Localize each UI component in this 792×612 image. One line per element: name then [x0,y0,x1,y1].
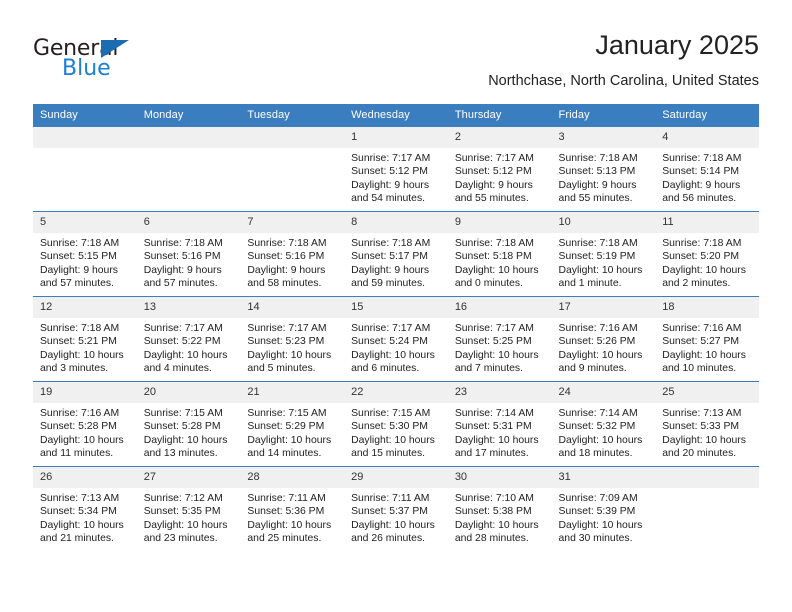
sunrise-time: Sunrise: 7:15 AM [247,407,338,420]
calendar-day-cell[interactable]: 19Sunrise: 7:16 AMSunset: 5:28 PMDayligh… [33,382,137,467]
calendar-day-cell-empty [137,127,241,212]
calendar-day-cell[interactable]: 23Sunrise: 7:14 AMSunset: 5:31 PMDayligh… [448,382,552,467]
sunrise-time: Sunrise: 7:09 AM [559,492,650,505]
day-number: 5 [33,212,137,233]
sunset-time: Sunset: 5:19 PM [559,250,650,263]
calendar-week-row: 12Sunrise: 7:18 AMSunset: 5:21 PMDayligh… [33,297,759,382]
daylight-duration-line1: Daylight: 10 hours [247,519,338,532]
calendar-day-cell[interactable]: 31Sunrise: 7:09 AMSunset: 5:39 PMDayligh… [552,467,656,552]
sunrise-time: Sunrise: 7:18 AM [662,237,753,250]
calendar-day-cell[interactable]: 25Sunrise: 7:13 AMSunset: 5:33 PMDayligh… [655,382,759,467]
sunset-time: Sunset: 5:22 PM [144,335,235,348]
daylight-duration-line1: Daylight: 9 hours [40,264,131,277]
day-details: Sunrise: 7:17 AMSunset: 5:22 PMDaylight:… [137,318,241,376]
sunset-time: Sunset: 5:13 PM [559,165,650,178]
calendar-day-cell[interactable]: 12Sunrise: 7:18 AMSunset: 5:21 PMDayligh… [33,297,137,382]
day-number: 3 [552,127,656,148]
sunrise-time: Sunrise: 7:18 AM [40,237,131,250]
calendar-day-cell-empty [33,127,137,212]
sunrise-time: Sunrise: 7:17 AM [144,322,235,335]
daylight-duration-line1: Daylight: 10 hours [662,264,753,277]
day-number: 2 [448,127,552,148]
day-details: Sunrise: 7:18 AMSunset: 5:19 PMDaylight:… [552,233,656,291]
day-details: Sunrise: 7:18 AMSunset: 5:18 PMDaylight:… [448,233,552,291]
day-details: Sunrise: 7:18 AMSunset: 5:17 PMDaylight:… [344,233,448,291]
day-details: Sunrise: 7:14 AMSunset: 5:32 PMDaylight:… [552,403,656,461]
daylight-duration-line1: Daylight: 10 hours [455,349,546,362]
daylight-duration-line1: Daylight: 10 hours [559,519,650,532]
sunset-time: Sunset: 5:18 PM [455,250,546,263]
day-details: Sunrise: 7:16 AMSunset: 5:26 PMDaylight:… [552,318,656,376]
daylight-duration-line2: and 20 minutes. [662,447,753,460]
day-details: Sunrise: 7:13 AMSunset: 5:33 PMDaylight:… [655,403,759,461]
weekday-header-sunday: Sunday [33,104,137,127]
sunset-time: Sunset: 5:32 PM [559,420,650,433]
sunset-time: Sunset: 5:37 PM [351,505,442,518]
sunset-time: Sunset: 5:12 PM [351,165,442,178]
sunrise-time: Sunrise: 7:13 AM [662,407,753,420]
daylight-duration-line2: and 14 minutes. [247,447,338,460]
sunset-time: Sunset: 5:34 PM [40,505,131,518]
day-details: Sunrise: 7:18 AMSunset: 5:20 PMDaylight:… [655,233,759,291]
daylight-duration-line2: and 2 minutes. [662,277,753,290]
calendar-day-cell[interactable]: 21Sunrise: 7:15 AMSunset: 5:29 PMDayligh… [240,382,344,467]
day-number: 21 [240,382,344,403]
calendar-day-cell[interactable]: 27Sunrise: 7:12 AMSunset: 5:35 PMDayligh… [137,467,241,552]
sunrise-time: Sunrise: 7:14 AM [455,407,546,420]
sunset-time: Sunset: 5:29 PM [247,420,338,433]
daylight-duration-line2: and 28 minutes. [455,532,546,545]
sunrise-time: Sunrise: 7:15 AM [351,407,442,420]
sunrise-time: Sunrise: 7:16 AM [662,322,753,335]
daylight-duration-line2: and 57 minutes. [144,277,235,290]
daylight-duration-line1: Daylight: 9 hours [559,179,650,192]
day-number: 25 [655,382,759,403]
sunset-time: Sunset: 5:33 PM [662,420,753,433]
sunrise-time: Sunrise: 7:17 AM [455,322,546,335]
logo-text-blue: Blue [62,56,111,82]
daylight-duration-line2: and 30 minutes. [559,532,650,545]
daylight-duration-line1: Daylight: 10 hours [559,349,650,362]
day-details: Sunrise: 7:18 AMSunset: 5:21 PMDaylight:… [33,318,137,376]
calendar-week-row: 5Sunrise: 7:18 AMSunset: 5:15 PMDaylight… [33,212,759,297]
day-details: Sunrise: 7:13 AMSunset: 5:34 PMDaylight:… [33,488,137,546]
weekday-header-tuesday: Tuesday [240,104,344,127]
calendar-day-cell[interactable]: 6Sunrise: 7:18 AMSunset: 5:16 PMDaylight… [137,212,241,297]
sunrise-time: Sunrise: 7:18 AM [247,237,338,250]
day-number: 16 [448,297,552,318]
weekday-header-thursday: Thursday [448,104,552,127]
weekday-header-wednesday: Wednesday [344,104,448,127]
daylight-duration-line1: Daylight: 10 hours [559,264,650,277]
weekday-header-row: Sunday Monday Tuesday Wednesday Thursday… [33,104,759,127]
sunset-time: Sunset: 5:35 PM [144,505,235,518]
daylight-duration-line1: Daylight: 10 hours [40,349,131,362]
sunrise-time: Sunrise: 7:18 AM [351,237,442,250]
daylight-duration-line1: Daylight: 10 hours [455,264,546,277]
calendar-week-row: 19Sunrise: 7:16 AMSunset: 5:28 PMDayligh… [33,382,759,467]
day-number: 7 [240,212,344,233]
day-number: 8 [344,212,448,233]
daylight-duration-line2: and 9 minutes. [559,362,650,375]
daylight-duration-line2: and 4 minutes. [144,362,235,375]
day-number [137,127,241,148]
day-details: Sunrise: 7:15 AMSunset: 5:30 PMDaylight:… [344,403,448,461]
sunset-time: Sunset: 5:16 PM [144,250,235,263]
daylight-duration-line1: Daylight: 9 hours [247,264,338,277]
day-number: 26 [33,467,137,488]
calendar-day-cell[interactable]: 16Sunrise: 7:17 AMSunset: 5:25 PMDayligh… [448,297,552,382]
daylight-duration-line1: Daylight: 10 hours [40,519,131,532]
daylight-duration-line1: Daylight: 9 hours [351,264,442,277]
daylight-duration-line2: and 18 minutes. [559,447,650,460]
calendar-day-cell[interactable]: 11Sunrise: 7:18 AMSunset: 5:20 PMDayligh… [655,212,759,297]
daylight-duration-line1: Daylight: 10 hours [247,434,338,447]
daylight-duration-line1: Daylight: 10 hours [662,349,753,362]
daylight-duration-line1: Daylight: 10 hours [40,434,131,447]
sunrise-time: Sunrise: 7:16 AM [40,407,131,420]
day-details: Sunrise: 7:18 AMSunset: 5:14 PMDaylight:… [655,148,759,206]
weekday-header-monday: Monday [137,104,241,127]
calendar-day-cell[interactable]: 1Sunrise: 7:17 AMSunset: 5:12 PMDaylight… [344,127,448,212]
day-details: Sunrise: 7:17 AMSunset: 5:23 PMDaylight:… [240,318,344,376]
sunset-time: Sunset: 5:16 PM [247,250,338,263]
daylight-duration-line1: Daylight: 10 hours [144,434,235,447]
daylight-duration-line2: and 26 minutes. [351,532,442,545]
day-number: 20 [137,382,241,403]
calendar-day-cell[interactable]: 9Sunrise: 7:18 AMSunset: 5:18 PMDaylight… [448,212,552,297]
sunset-time: Sunset: 5:27 PM [662,335,753,348]
calendar-page: General Blue January 2025 Northchase, No… [0,0,792,612]
calendar-day-cell[interactable]: 29Sunrise: 7:11 AMSunset: 5:37 PMDayligh… [344,467,448,552]
day-number [655,467,759,488]
calendar-day-cell[interactable]: 8Sunrise: 7:18 AMSunset: 5:17 PMDaylight… [344,212,448,297]
daylight-duration-line2: and 7 minutes. [455,362,546,375]
sunrise-time: Sunrise: 7:14 AM [559,407,650,420]
daylight-duration-line2: and 55 minutes. [455,192,546,205]
daylight-duration-line1: Daylight: 10 hours [247,349,338,362]
day-details: Sunrise: 7:10 AMSunset: 5:38 PMDaylight:… [448,488,552,546]
daylight-duration-line1: Daylight: 10 hours [662,434,753,447]
day-number [33,127,137,148]
day-details: Sunrise: 7:17 AMSunset: 5:12 PMDaylight:… [448,148,552,206]
daylight-duration-line2: and 25 minutes. [247,532,338,545]
day-number: 4 [655,127,759,148]
sunrise-time: Sunrise: 7:18 AM [559,152,650,165]
sunset-time: Sunset: 5:36 PM [247,505,338,518]
day-details: Sunrise: 7:17 AMSunset: 5:12 PMDaylight:… [344,148,448,206]
calendar-day-cell[interactable]: 14Sunrise: 7:17 AMSunset: 5:23 PMDayligh… [240,297,344,382]
day-number: 13 [137,297,241,318]
calendar-week-row: 26Sunrise: 7:13 AMSunset: 5:34 PMDayligh… [33,467,759,552]
day-number: 27 [137,467,241,488]
daylight-duration-line1: Daylight: 10 hours [351,519,442,532]
day-number: 30 [448,467,552,488]
day-details: Sunrise: 7:16 AMSunset: 5:27 PMDaylight:… [655,318,759,376]
daylight-duration-line2: and 1 minute. [559,277,650,290]
daylight-duration-line1: Daylight: 10 hours [559,434,650,447]
calendar-day-cell[interactable]: 30Sunrise: 7:10 AMSunset: 5:38 PMDayligh… [448,467,552,552]
day-number: 28 [240,467,344,488]
day-details: Sunrise: 7:09 AMSunset: 5:39 PMDaylight:… [552,488,656,546]
general-blue-logo[interactable]: General Blue [33,36,153,84]
sunrise-time: Sunrise: 7:10 AM [455,492,546,505]
day-number [240,127,344,148]
sunrise-time: Sunrise: 7:12 AM [144,492,235,505]
day-details: Sunrise: 7:18 AMSunset: 5:15 PMDaylight:… [33,233,137,291]
day-number: 19 [33,382,137,403]
daylight-duration-line2: and 58 minutes. [247,277,338,290]
day-details: Sunrise: 7:16 AMSunset: 5:28 PMDaylight:… [33,403,137,461]
sunrise-time: Sunrise: 7:15 AM [144,407,235,420]
daylight-duration-line2: and 15 minutes. [351,447,442,460]
daylight-duration-line2: and 11 minutes. [40,447,131,460]
calendar-day-cell[interactable]: 5Sunrise: 7:18 AMSunset: 5:15 PMDaylight… [33,212,137,297]
calendar-day-cell[interactable]: 4Sunrise: 7:18 AMSunset: 5:14 PMDaylight… [655,127,759,212]
daylight-duration-line2: and 3 minutes. [40,362,131,375]
daylight-duration-line2: and 10 minutes. [662,362,753,375]
daylight-duration-line1: Daylight: 9 hours [144,264,235,277]
calendar-day-cell[interactable]: 2Sunrise: 7:17 AMSunset: 5:12 PMDaylight… [448,127,552,212]
day-details: Sunrise: 7:18 AMSunset: 5:16 PMDaylight:… [137,233,241,291]
sunset-time: Sunset: 5:23 PM [247,335,338,348]
day-number: 6 [137,212,241,233]
sunset-time: Sunset: 5:26 PM [559,335,650,348]
daylight-duration-line2: and 0 minutes. [455,277,546,290]
sunset-time: Sunset: 5:20 PM [662,250,753,263]
day-number: 31 [552,467,656,488]
daylight-duration-line2: and 17 minutes. [455,447,546,460]
sunrise-time: Sunrise: 7:17 AM [247,322,338,335]
calendar-week-row: 1Sunrise: 7:17 AMSunset: 5:12 PMDaylight… [33,127,759,212]
day-details: Sunrise: 7:12 AMSunset: 5:35 PMDaylight:… [137,488,241,546]
weekday-header-saturday: Saturday [655,104,759,127]
calendar-day-cell[interactable]: 15Sunrise: 7:17 AMSunset: 5:24 PMDayligh… [344,297,448,382]
daylight-duration-line1: Daylight: 10 hours [351,349,442,362]
sunrise-time: Sunrise: 7:17 AM [351,152,442,165]
sunrise-time: Sunrise: 7:17 AM [351,322,442,335]
sunset-time: Sunset: 5:30 PM [351,420,442,433]
daylight-duration-line2: and 13 minutes. [144,447,235,460]
day-details: Sunrise: 7:14 AMSunset: 5:31 PMDaylight:… [448,403,552,461]
sunset-time: Sunset: 5:31 PM [455,420,546,433]
day-number: 1 [344,127,448,148]
sunset-time: Sunset: 5:21 PM [40,335,131,348]
day-details: Sunrise: 7:18 AMSunset: 5:13 PMDaylight:… [552,148,656,206]
title-block: January 2025 Northchase, North Carolina,… [488,28,759,91]
sunrise-sunset-calendar: Sunday Monday Tuesday Wednesday Thursday… [33,104,759,551]
sunset-time: Sunset: 5:15 PM [40,250,131,263]
day-details: Sunrise: 7:11 AMSunset: 5:36 PMDaylight:… [240,488,344,546]
day-number: 12 [33,297,137,318]
calendar-day-cell-empty [655,467,759,552]
day-details: Sunrise: 7:18 AMSunset: 5:16 PMDaylight:… [240,233,344,291]
daylight-duration-line2: and 55 minutes. [559,192,650,205]
calendar-day-cell[interactable]: 10Sunrise: 7:18 AMSunset: 5:19 PMDayligh… [552,212,656,297]
calendar-header: Sunday Monday Tuesday Wednesday Thursday… [33,104,759,127]
daylight-duration-line1: Daylight: 10 hours [144,519,235,532]
calendar-day-cell[interactable]: 7Sunrise: 7:18 AMSunset: 5:16 PMDaylight… [240,212,344,297]
daylight-duration-line1: Daylight: 10 hours [455,434,546,447]
day-number: 11 [655,212,759,233]
sunset-time: Sunset: 5:38 PM [455,505,546,518]
calendar-day-cell[interactable]: 26Sunrise: 7:13 AMSunset: 5:34 PMDayligh… [33,467,137,552]
sunset-time: Sunset: 5:14 PM [662,165,753,178]
sunrise-time: Sunrise: 7:18 AM [144,237,235,250]
daylight-duration-line2: and 6 minutes. [351,362,442,375]
weekday-header-friday: Friday [552,104,656,127]
daylight-duration-line2: and 54 minutes. [351,192,442,205]
sunset-time: Sunset: 5:12 PM [455,165,546,178]
daylight-duration-line2: and 5 minutes. [247,362,338,375]
sunset-time: Sunset: 5:28 PM [144,420,235,433]
day-number: 23 [448,382,552,403]
daylight-duration-line1: Daylight: 9 hours [662,179,753,192]
calendar-day-cell[interactable]: 20Sunrise: 7:15 AMSunset: 5:28 PMDayligh… [137,382,241,467]
sunrise-time: Sunrise: 7:13 AM [40,492,131,505]
daylight-duration-line2: and 57 minutes. [40,277,131,290]
sunset-time: Sunset: 5:24 PM [351,335,442,348]
calendar-day-cell[interactable]: 22Sunrise: 7:15 AMSunset: 5:30 PMDayligh… [344,382,448,467]
sunset-time: Sunset: 5:28 PM [40,420,131,433]
daylight-duration-line2: and 23 minutes. [144,532,235,545]
calendar-day-cell[interactable]: 24Sunrise: 7:14 AMSunset: 5:32 PMDayligh… [552,382,656,467]
calendar-day-cell[interactable]: 3Sunrise: 7:18 AMSunset: 5:13 PMDaylight… [552,127,656,212]
sunset-time: Sunset: 5:25 PM [455,335,546,348]
day-number: 9 [448,212,552,233]
day-number: 17 [552,297,656,318]
day-details: Sunrise: 7:15 AMSunset: 5:29 PMDaylight:… [240,403,344,461]
daylight-duration-line1: Daylight: 9 hours [455,179,546,192]
sunset-time: Sunset: 5:39 PM [559,505,650,518]
calendar-body: 1Sunrise: 7:17 AMSunset: 5:12 PMDaylight… [33,127,759,551]
daylight-duration-line1: Daylight: 9 hours [351,179,442,192]
sunrise-time: Sunrise: 7:18 AM [662,152,753,165]
daylight-duration-line2: and 56 minutes. [662,192,753,205]
day-details: Sunrise: 7:17 AMSunset: 5:25 PMDaylight:… [448,318,552,376]
calendar-day-cell[interactable]: 17Sunrise: 7:16 AMSunset: 5:26 PMDayligh… [552,297,656,382]
sunrise-time: Sunrise: 7:18 AM [40,322,131,335]
page-header: General Blue January 2025 Northchase, No… [33,28,759,100]
calendar-day-cell-empty [240,127,344,212]
sunrise-time: Sunrise: 7:11 AM [351,492,442,505]
day-number: 24 [552,382,656,403]
day-details: Sunrise: 7:11 AMSunset: 5:37 PMDaylight:… [344,488,448,546]
calendar-day-cell[interactable]: 13Sunrise: 7:17 AMSunset: 5:22 PMDayligh… [137,297,241,382]
sunset-time: Sunset: 5:17 PM [351,250,442,263]
daylight-duration-line1: Daylight: 10 hours [455,519,546,532]
daylight-duration-line2: and 59 minutes. [351,277,442,290]
page-title: January 2025 [488,28,759,62]
calendar-day-cell[interactable]: 28Sunrise: 7:11 AMSunset: 5:36 PMDayligh… [240,467,344,552]
sunrise-time: Sunrise: 7:18 AM [455,237,546,250]
day-details: Sunrise: 7:17 AMSunset: 5:24 PMDaylight:… [344,318,448,376]
sunrise-time: Sunrise: 7:18 AM [559,237,650,250]
day-details: Sunrise: 7:15 AMSunset: 5:28 PMDaylight:… [137,403,241,461]
daylight-duration-line2: and 21 minutes. [40,532,131,545]
sunrise-time: Sunrise: 7:11 AM [247,492,338,505]
daylight-duration-line1: Daylight: 10 hours [351,434,442,447]
day-number: 22 [344,382,448,403]
daylight-duration-line1: Daylight: 10 hours [144,349,235,362]
day-number: 10 [552,212,656,233]
calendar-day-cell[interactable]: 18Sunrise: 7:16 AMSunset: 5:27 PMDayligh… [655,297,759,382]
page-subtitle: Northchase, North Carolina, United State… [488,71,759,91]
day-number: 15 [344,297,448,318]
sunrise-time: Sunrise: 7:16 AM [559,322,650,335]
day-number: 29 [344,467,448,488]
sunrise-time: Sunrise: 7:17 AM [455,152,546,165]
day-number: 14 [240,297,344,318]
day-number: 18 [655,297,759,318]
